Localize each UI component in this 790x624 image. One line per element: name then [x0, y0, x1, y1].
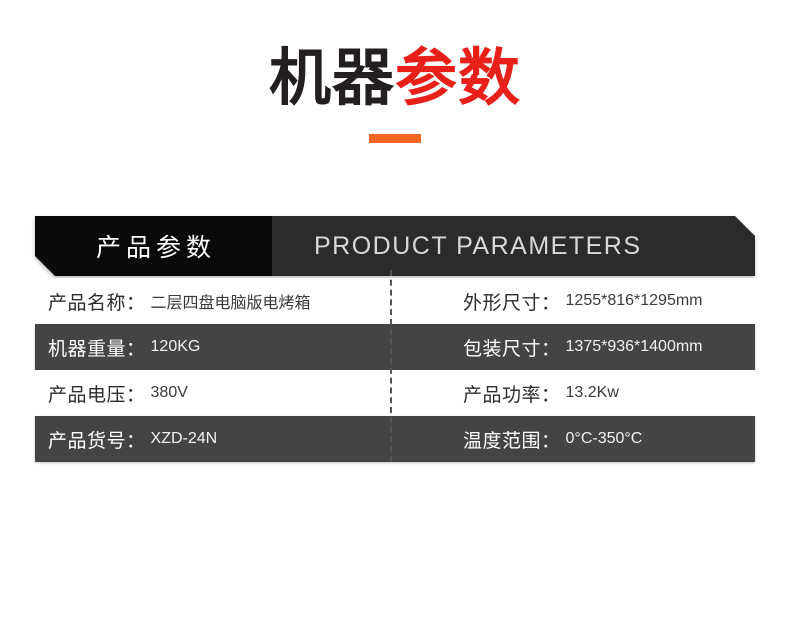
spec-value: 380V: [151, 384, 188, 402]
spec-cell-left: 产品货号： XZD-24N: [35, 416, 390, 462]
spec-cell-right: 温度范围： 0°C-350°C: [390, 416, 755, 462]
spec-value: 120KG: [151, 338, 201, 356]
spec-cell-left: 机器重量： 120KG: [35, 324, 390, 370]
spec-label: 产品功率：: [463, 380, 561, 407]
spec-value: 0°C-350°C: [566, 430, 643, 448]
spec-cell-right: 外形尺寸： 1255*816*1295mm: [390, 278, 755, 324]
spec-label: 机器重量：: [48, 334, 146, 361]
spec-cell-left: 产品电压： 380V: [35, 370, 390, 416]
spec-value: XZD-24N: [151, 430, 218, 448]
page-title-dark-part: 机器: [269, 44, 395, 113]
spec-cell-left: 产品名称： 二层四盘电脑版电烤箱: [35, 278, 390, 324]
spec-value: 1255*816*1295mm: [566, 292, 703, 310]
spec-value: 13.2Kw: [566, 384, 619, 402]
product-parameters-banner: 产品参数 PRODUCT PARAMETERS: [35, 216, 755, 276]
spec-label: 外形尺寸：: [463, 288, 561, 315]
spec-label: 温度范围：: [463, 426, 561, 453]
spec-label: 产品货号：: [48, 426, 146, 453]
spec-table: 产品名称： 二层四盘电脑版电烤箱 外形尺寸： 1255*816*1295mm 机…: [35, 278, 755, 462]
spec-label: 产品电压：: [48, 380, 146, 407]
spec-cell-right: 产品功率： 13.2Kw: [390, 370, 755, 416]
page-title-red-part: 参数: [395, 44, 521, 113]
banner-left-section: 产品参数: [35, 216, 272, 276]
page-title-block: 机器参数: [0, 40, 790, 143]
spec-value: 二层四盘电脑版电烤箱: [151, 289, 311, 313]
spec-cell-right: 包装尺寸： 1375*936*1400mm: [390, 324, 755, 370]
table-row: 机器重量： 120KG 包装尺寸： 1375*936*1400mm: [35, 324, 755, 370]
banner-right-label: PRODUCT PARAMETERS: [272, 232, 642, 261]
column-divider: [390, 270, 392, 462]
spec-label: 包装尺寸：: [463, 334, 561, 361]
banner-right-section: PRODUCT PARAMETERS: [272, 216, 755, 276]
spec-label: 产品名称：: [48, 288, 146, 315]
table-row: 产品电压： 380V 产品功率： 13.2Kw: [35, 370, 755, 416]
title-underline-bar: [369, 134, 421, 143]
page-title: 机器参数: [0, 40, 790, 118]
table-row: 产品名称： 二层四盘电脑版电烤箱 外形尺寸： 1255*816*1295mm: [35, 278, 755, 324]
table-row: 产品货号： XZD-24N 温度范围： 0°C-350°C: [35, 416, 755, 462]
banner-left-label: 产品参数: [91, 228, 216, 264]
spec-value: 1375*936*1400mm: [566, 338, 703, 356]
